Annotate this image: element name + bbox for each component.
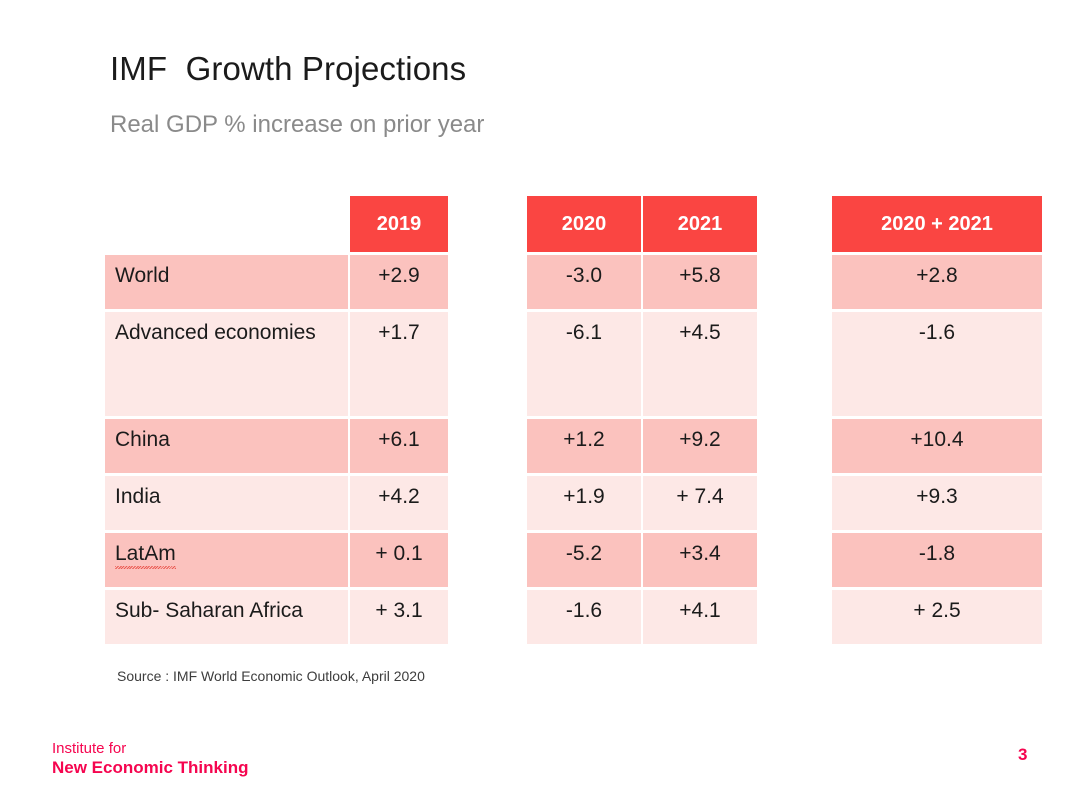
table-row: -6.1 +4.5: [527, 312, 757, 416]
table-row: -1.6: [832, 312, 1042, 416]
cell-world-2020: -3.0: [527, 255, 641, 309]
table-row: +10.4: [832, 419, 1042, 473]
cell-world-2021: +5.8: [643, 255, 757, 309]
cell-china-combined: +10.4: [832, 419, 1042, 473]
row-label-advanced-economies: Advanced economies: [105, 312, 348, 416]
table-row: China +6.1: [105, 419, 448, 473]
header-row-2019: 2019: [105, 196, 448, 252]
row-label-sub-saharan-africa: Sub- Saharan Africa: [105, 590, 348, 644]
logo-line-new-economic-thinking: New Economic Thinking: [52, 758, 248, 778]
table-row: -1.8: [832, 533, 1042, 587]
column-header-2020: 2020: [527, 196, 641, 252]
cell-advanced-economies-2020: -6.1: [527, 312, 641, 416]
table-row: -1.6 +4.1: [527, 590, 757, 644]
cell-world-combined: +2.8: [832, 255, 1042, 309]
cell-advanced-economies-2019: +1.7: [350, 312, 448, 416]
table-row: -5.2 +3.4: [527, 533, 757, 587]
cell-india-2020: +1.9: [527, 476, 641, 530]
cell-latam-combined: -1.8: [832, 533, 1042, 587]
source-note: Source : IMF World Economic Outlook, Apr…: [117, 668, 425, 684]
table-block-2019: 2019 World +2.9 Advanced economies +1.7 …: [105, 196, 448, 644]
header-row-2020-2021: 2020 2021: [527, 196, 757, 252]
table-row: Advanced economies +1.7: [105, 312, 448, 416]
table-row: +2.8: [832, 255, 1042, 309]
cell-advanced-economies-combined: -1.6: [832, 312, 1042, 416]
column-header-2019: 2019: [350, 196, 448, 252]
row-label-china: China: [105, 419, 348, 473]
table-row: +1.9 + 7.4: [527, 476, 757, 530]
institute-logo: Institute for New Economic Thinking: [52, 740, 248, 778]
row-label-world: World: [105, 255, 348, 309]
column-header-2021: 2021: [643, 196, 757, 252]
table-row: +9.3: [832, 476, 1042, 530]
row-label-india: India: [105, 476, 348, 530]
cell-sub-saharan-africa-2019: + 3.1: [350, 590, 448, 644]
header-row-combined: 2020 + 2021: [832, 196, 1042, 252]
cell-sub-saharan-africa-combined: + 2.5: [832, 590, 1042, 644]
table-row: Sub- Saharan Africa + 3.1: [105, 590, 448, 644]
cell-world-2019: +2.9: [350, 255, 448, 309]
table-row: World +2.9: [105, 255, 448, 309]
cell-advanced-economies-2021: +4.5: [643, 312, 757, 416]
table-row: +1.2 +9.2: [527, 419, 757, 473]
page-title: IMF Growth Projections: [110, 50, 466, 88]
logo-line-institute-for: Institute for: [52, 740, 248, 758]
table-row: + 2.5: [832, 590, 1042, 644]
cell-india-2021: + 7.4: [643, 476, 757, 530]
spellcheck-underline: LatAm: [115, 542, 176, 566]
table-row: -3.0 +5.8: [527, 255, 757, 309]
column-header-blank: [105, 196, 348, 252]
page-subtitle: Real GDP % increase on prior year: [110, 111, 484, 139]
table-row: LatAm + 0.1: [105, 533, 448, 587]
cell-latam-2020: -5.2: [527, 533, 641, 587]
projections-table: 2019 World +2.9 Advanced economies +1.7 …: [0, 196, 1072, 646]
page-number: 3: [1018, 745, 1027, 765]
cell-sub-saharan-africa-2020: -1.6: [527, 590, 641, 644]
table-row: India +4.2: [105, 476, 448, 530]
table-block-combined: 2020 + 2021 +2.8 -1.6 +10.4 +9.3 -1.8 + …: [832, 196, 1042, 644]
cell-china-2020: +1.2: [527, 419, 641, 473]
cell-india-2019: +4.2: [350, 476, 448, 530]
cell-china-2019: +6.1: [350, 419, 448, 473]
cell-latam-2021: +3.4: [643, 533, 757, 587]
cell-india-combined: +9.3: [832, 476, 1042, 530]
row-label-latam: LatAm: [105, 533, 348, 587]
cell-sub-saharan-africa-2021: +4.1: [643, 590, 757, 644]
cell-china-2021: +9.2: [643, 419, 757, 473]
table-block-2020-2021: 2020 2021 -3.0 +5.8 -6.1 +4.5 +1.2 +9.2 …: [527, 196, 757, 644]
cell-latam-2019: + 0.1: [350, 533, 448, 587]
column-header-combined: 2020 + 2021: [832, 196, 1042, 252]
